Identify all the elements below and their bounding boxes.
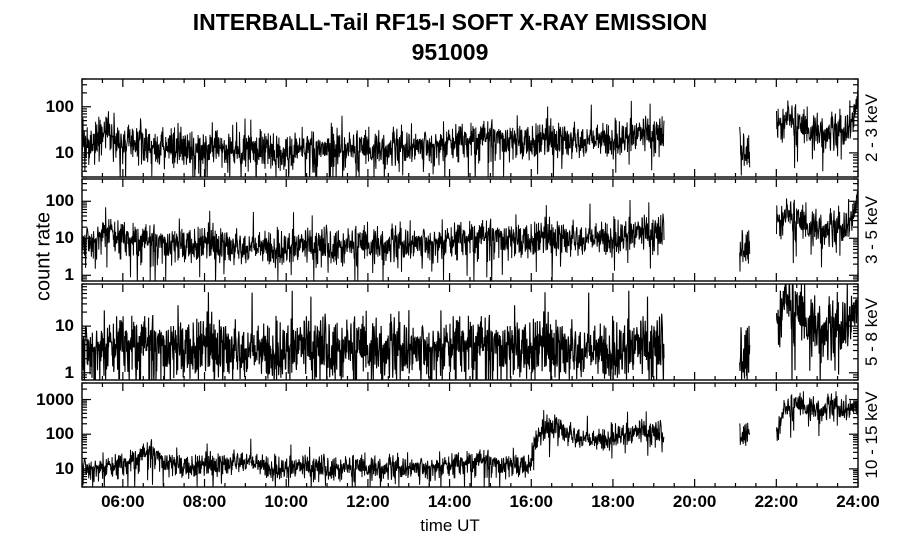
- x-tick-label: 22:00: [731, 492, 821, 512]
- x-tick-label: 08:00: [160, 492, 250, 512]
- panel-2-ytick-label: 100: [0, 191, 74, 211]
- panel-1-group: [82, 79, 858, 181]
- x-tick-label: 18:00: [568, 492, 658, 512]
- x-tick-label: 20:00: [650, 492, 740, 512]
- x-tick-label: 06:00: [78, 492, 168, 512]
- panel-3-group: [82, 280, 858, 384]
- panel-2-ytick-label: 1: [0, 265, 74, 285]
- panel-3-ytick-label: 1: [0, 363, 74, 383]
- x-axis-label: time UT: [0, 516, 900, 536]
- trace-3: [777, 280, 859, 384]
- trace-1: [82, 101, 664, 181]
- x-tick-label: 10:00: [241, 492, 331, 512]
- figure-root: INTERBALL-Tail RF15-I SOFT X-RAY EMISSIO…: [0, 0, 900, 548]
- trace-1: [777, 89, 859, 172]
- panel-1-ytick-label: 10: [0, 143, 74, 163]
- x-tick-label: 12:00: [323, 492, 413, 512]
- trace-4: [82, 410, 664, 491]
- panel-4-ytick-label: 100: [0, 424, 74, 444]
- trace-2: [740, 230, 750, 272]
- trace-4: [777, 391, 859, 441]
- trace-3: [82, 291, 664, 384]
- trace-2: [82, 200, 664, 285]
- trace-4: [740, 423, 750, 446]
- panel-4-ytick-label: 1000: [0, 390, 74, 410]
- plot-canvas: [0, 0, 900, 548]
- panel-1-ytick-label: 100: [0, 97, 74, 117]
- panel-2-ytick-label: 10: [0, 228, 74, 248]
- panel-4-ytick-label: 10: [0, 459, 74, 479]
- trace-3: [740, 326, 750, 383]
- panel-2-group: [82, 179, 858, 285]
- trace-2: [777, 191, 859, 267]
- x-tick-label: 16:00: [486, 492, 576, 512]
- x-tick-label: 14:00: [405, 492, 495, 512]
- x-tick-label: 24:00: [813, 492, 900, 512]
- panel-3-ytick-label: 10: [0, 316, 74, 336]
- panel-4-group: [82, 383, 858, 491]
- trace-1: [740, 127, 750, 176]
